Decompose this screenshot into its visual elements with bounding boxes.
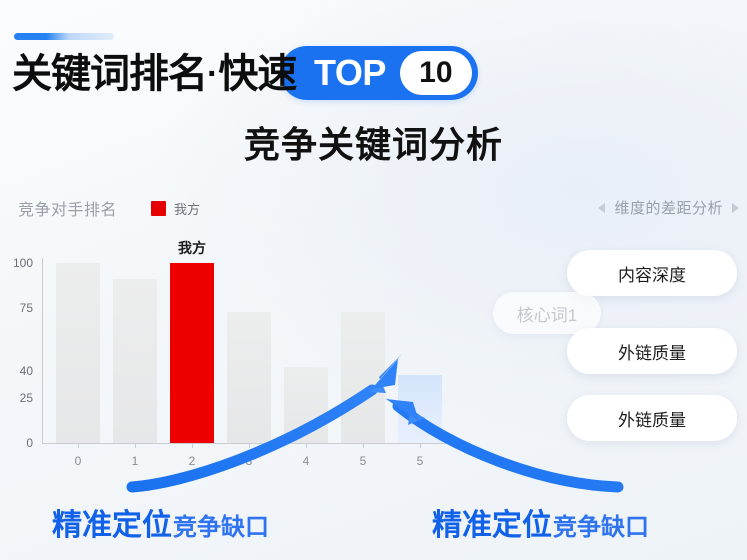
y-tick-40: 40 bbox=[20, 364, 33, 378]
dimension-card-backlink-quality-1[interactable]: 外链质量 bbox=[567, 328, 737, 374]
x-tick-6: 5 bbox=[417, 454, 424, 468]
headline-secondary-text: 快速 bbox=[218, 54, 296, 94]
headline: 关键词排名 · 快速 bbox=[12, 46, 296, 102]
bar-5 bbox=[398, 375, 442, 443]
chart-legend: 我方 bbox=[151, 199, 200, 218]
bar-3 bbox=[227, 312, 271, 443]
x-axis-line bbox=[42, 443, 462, 444]
callout-right: 精准定位 竞争缺口 bbox=[432, 500, 649, 544]
right-panel-header: 维度的差距分析 bbox=[598, 197, 739, 218]
bar-1 bbox=[113, 279, 157, 443]
x-tick-mark-4 bbox=[306, 443, 307, 448]
y-axis-line bbox=[42, 258, 43, 444]
x-tick-mark-6 bbox=[420, 443, 421, 448]
legend-label: 我方 bbox=[174, 199, 200, 218]
x-tick-mark-3 bbox=[249, 443, 250, 448]
x-tick-mark-1 bbox=[135, 443, 136, 448]
callout-left-strong: 精准定位 bbox=[52, 500, 172, 544]
bar-0 bbox=[56, 263, 100, 443]
chevron-left-icon[interactable] bbox=[598, 203, 605, 213]
bar-2-highlight: 我方 bbox=[170, 263, 214, 443]
y-tick-75: 75 bbox=[20, 301, 33, 315]
dimension-card-content-depth[interactable]: 内容深度 bbox=[567, 250, 737, 296]
x-tick-mark-2 bbox=[192, 443, 193, 448]
bar-5 bbox=[341, 312, 385, 443]
x-tick-1: 1 bbox=[132, 454, 139, 468]
dimension-card-label: 外链质量 bbox=[618, 406, 686, 431]
chart-title: 竞争对手排名 bbox=[18, 196, 117, 220]
headline-separator-dot: · bbox=[207, 55, 218, 94]
dimension-card-label: 外链质量 bbox=[618, 339, 686, 364]
bar-highlight-label: 我方 bbox=[178, 238, 206, 258]
top-rank-badge: TOP 10 bbox=[280, 46, 478, 100]
bar-4 bbox=[284, 367, 328, 443]
decorative-progress-bar bbox=[14, 33, 114, 40]
x-tick-2: 2 bbox=[189, 454, 196, 468]
legend-swatch-icon bbox=[151, 201, 166, 216]
chart-header: 竞争对手排名 我方 bbox=[18, 196, 200, 220]
callout-left: 精准定位 竞争缺口 bbox=[52, 500, 269, 544]
x-tick-5: 5 bbox=[360, 454, 367, 468]
y-tick-0: 0 bbox=[26, 436, 33, 450]
top-badge-number: 10 bbox=[419, 58, 452, 88]
page-title: 竞争关键词分析 bbox=[0, 116, 747, 168]
x-tick-mark-0 bbox=[78, 443, 79, 448]
headline-main-text: 关键词排名 bbox=[12, 54, 207, 94]
callout-right-strong: 精准定位 bbox=[432, 500, 552, 544]
y-tick-100: 100 bbox=[13, 256, 33, 270]
x-tick-mark-5 bbox=[363, 443, 364, 448]
bar-chart: 1007540250 我方 0123455 bbox=[42, 258, 462, 448]
x-axis-arrow-icon bbox=[459, 439, 466, 447]
right-panel-title: 维度的差距分析 bbox=[614, 197, 723, 218]
x-tick-0: 0 bbox=[75, 454, 82, 468]
y-tick-25: 25 bbox=[20, 391, 33, 405]
top-badge-number-circle: 10 bbox=[400, 51, 472, 95]
chevron-right-icon[interactable] bbox=[732, 203, 739, 213]
dimension-card-label: 内容深度 bbox=[618, 261, 686, 286]
callout-right-weak: 竞争缺口 bbox=[553, 507, 649, 542]
x-tick-3: 3 bbox=[246, 454, 253, 468]
ghost-keyword-label: 核心词1 bbox=[517, 301, 577, 326]
dimension-card-backlink-quality-2[interactable]: 外链质量 bbox=[567, 395, 737, 441]
x-tick-4: 4 bbox=[303, 454, 310, 468]
callout-left-weak: 竞争缺口 bbox=[173, 507, 269, 542]
top-badge-label: TOP bbox=[314, 55, 386, 91]
